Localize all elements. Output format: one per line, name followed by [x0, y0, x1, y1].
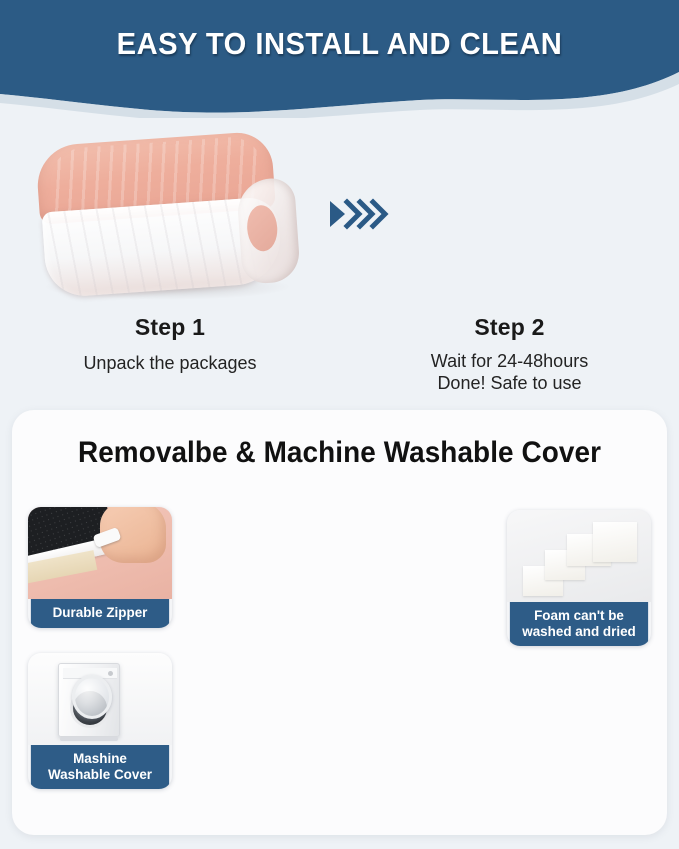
feature-washable-label: Mashine Washable Cover [31, 745, 169, 789]
feature-foam-not-washable: Foam can't be washed and dried [507, 510, 651, 646]
step-2-title: Step 2 [340, 314, 679, 341]
washing-machine-door [72, 675, 112, 719]
foam-block-4 [593, 522, 637, 562]
steps-section: Step 1 Unpack the packages [0, 96, 679, 406]
washing-machine-base [60, 737, 118, 741]
zipper-scene [28, 507, 172, 599]
step-2-subtitle-line-2: Done! Safe to use [340, 373, 679, 395]
step-2-caption: Step 2 Wait for 24-48hours Done! Safe to… [340, 314, 679, 395]
feature-durable-zipper: Durable Zipper [28, 507, 172, 628]
step-1-caption: Step 1 Unpack the packages [0, 314, 340, 375]
step-1-block: Step 1 Unpack the packages [0, 96, 340, 396]
feature-foam-label-line-1: Foam can't be [514, 608, 645, 624]
feature-washable-label-line-1: Mashine [35, 751, 166, 767]
package-body [35, 129, 295, 298]
washing-machine-photo [28, 653, 172, 745]
page-title: EASY TO INSTALL AND CLEAN [20, 26, 658, 62]
vacuum-packed-foam-roll-image [18, 124, 308, 314]
zipper-closeup-photo [28, 507, 172, 599]
step-2-subtitle-line-1: Wait for 24-48hours [340, 351, 679, 373]
feature-foam-label-line-2: washed and dried [514, 624, 645, 640]
washing-machine-scene [28, 653, 172, 745]
white-foam-stairs-photo [507, 510, 651, 602]
step-1-title: Step 1 [0, 314, 340, 341]
step-1-subtitle: Unpack the packages [0, 353, 340, 375]
foam-stairs-scene [507, 510, 651, 602]
cover-section-heading: Removalbe & Machine Washable Cover [35, 436, 644, 470]
feature-machine-washable: Mashine Washable Cover [28, 653, 172, 789]
step-2-block: Step 2 Wait for 24-48hours Done! Safe to… [340, 96, 679, 396]
infographic-page: EASY TO INSTALL AND CLEAN Step 1 Unpack … [0, 0, 679, 849]
package-end-cap [236, 177, 301, 285]
feature-zipper-label: Durable Zipper [31, 599, 169, 628]
feature-foam-label: Foam can't be washed and dried [510, 602, 648, 646]
feature-washable-label-line-2: Washable Cover [35, 767, 166, 783]
washable-cover-card: Removalbe & Machine Washable Cover Durab… [12, 410, 667, 835]
